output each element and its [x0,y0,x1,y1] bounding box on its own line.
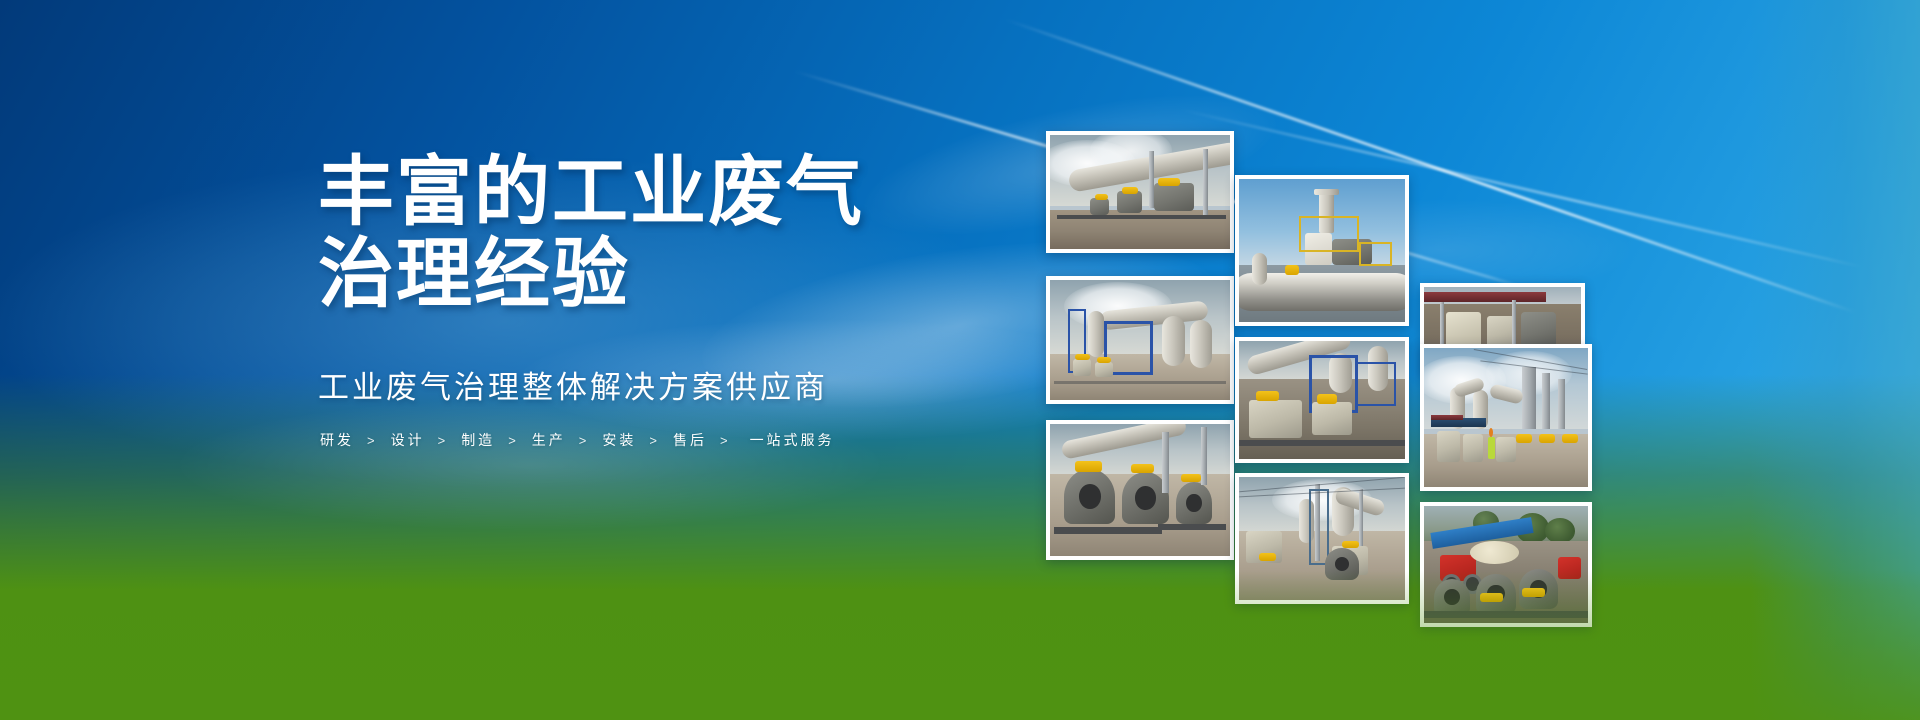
banner-subheadline: 工业废气治理整体解决方案供应商 [318,368,958,408]
chevron-separator-icon: > [638,433,671,448]
collage-photo-plant-overview-worker[interactable] [1420,344,1592,491]
headline-line-2: 治理经验 [318,234,958,316]
headline-line-1: 丰富的工业废气 [318,150,864,235]
hero-banner: 丰富的工业废气 治理经验 工业废气治理整体解决方案供应商 研发 > 设计 > 制… [0,0,1920,720]
process-step-anzhuang: 安装 [600,430,638,450]
chevron-separator-icon: > [497,433,530,448]
process-step-shouhou: 售后 [671,430,709,450]
chevron-separator-icon: > [356,433,389,448]
collage-photo-centrifugal-fan-row[interactable] [1046,420,1234,560]
collage-photo-rto-incinerator-duct[interactable] [1235,175,1409,326]
chevron-separator-icon: > [568,433,601,448]
process-step-list: 研发 > 设计 > 制造 > 生产 > 安装 > 售后 > 一站式服务 [318,430,958,450]
process-step-yanfa: 研发 [318,430,356,450]
process-step-yizhanshifuwu: 一站式服务 [742,430,837,450]
collage-photo-scrubber-tower-array[interactable] [1046,276,1234,404]
process-step-sheji: 设计 [389,430,427,450]
banner-copy-block: 丰富的工业废气 治理经验 工业废气治理整体解决方案供应商 研发 > 设计 > 制… [318,152,958,450]
process-step-shengchan: 生产 [530,430,568,450]
collage-photo-pipeline-gallery-rooftop[interactable] [1046,131,1234,253]
sky-ground-gradient-background [0,0,1920,720]
process-step-zhizao: 制造 [459,430,497,450]
banner-headline: 丰富的工业废气 治理经验 [318,152,958,316]
collage-photo-workshop-fan-assembly[interactable] [1235,337,1409,463]
chevron-separator-icon: > [427,433,460,448]
collage-photo-exhaust-treatment-plant[interactable] [1235,473,1409,604]
chevron-separator-icon: > [709,433,742,448]
collage-photo-fan-housing-yard[interactable] [1420,502,1592,627]
